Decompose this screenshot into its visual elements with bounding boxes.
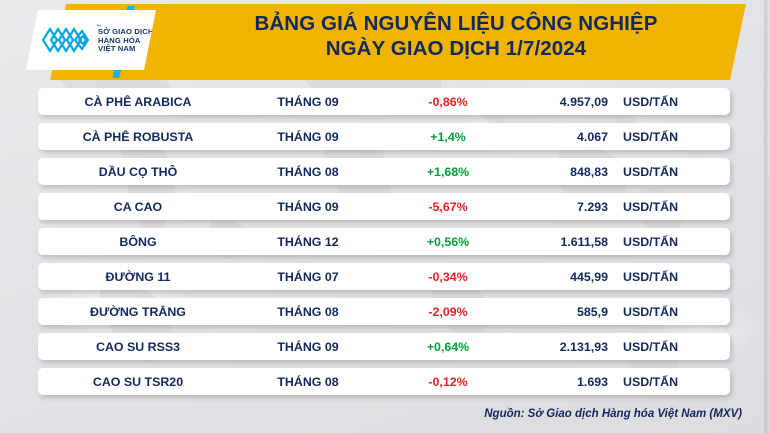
commodity-name: ĐƯỜNG TRẮNG (38, 305, 238, 319)
price-value: 1.611,58 (508, 235, 608, 249)
price-value: 585,9 (508, 305, 608, 319)
contract-month: THÁNG 12 (248, 235, 368, 249)
contract-month: THÁNG 09 (248, 340, 368, 354)
source-note: Nguồn: Sở Giao dịch Hàng hóa Việt Nam (M… (484, 408, 742, 420)
change-percent: -5,67% (378, 200, 518, 214)
logo-card: ™ SỞ GIAO DỊCH HÀNG HÓA VIỆT NAM (26, 10, 156, 70)
table-row[interactable]: ĐƯỜNG TRẮNGTHÁNG 08-2,09%585,9USD/TẤN (38, 298, 730, 325)
contract-month: THÁNG 09 (248, 130, 368, 144)
commodity-name: CÀ PHÊ ARABICA (38, 95, 238, 109)
change-percent: +1,68% (378, 165, 518, 179)
price-unit: USD/TẤN (623, 270, 678, 284)
change-percent: -2,09% (378, 305, 518, 319)
logo-wordmark: SỞ GIAO DỊCH HÀNG HÓA VIỆT NAM (98, 28, 154, 54)
price-unit: USD/TẤN (623, 375, 678, 389)
change-percent: -0,34% (378, 270, 518, 284)
price-unit: USD/TẤN (623, 200, 678, 214)
change-percent: +0,56% (378, 235, 518, 249)
title-line-1: BẢNG GIÁ NGUYÊN LIỆU CÔNG NGHIỆP (196, 11, 716, 36)
price-unit: USD/TẤN (623, 340, 678, 354)
price-value: 445,99 (508, 270, 608, 284)
mxv-logo-icon (40, 23, 92, 57)
contract-month: THÁNG 08 (248, 165, 368, 179)
commodity-name: ĐƯỜNG 11 (38, 270, 238, 284)
commodity-name: CAO SU RSS3 (38, 340, 238, 354)
commodity-name: DẦU CỌ THÔ (38, 165, 238, 179)
table-row[interactable]: CAO SU TSR20THÁNG 08-0,12%1.693USD/TẤN (38, 368, 730, 395)
contract-month: THÁNG 08 (248, 375, 368, 389)
title-line-2: NGÀY GIAO DỊCH 1/7/2024 (196, 36, 716, 61)
contract-month: THÁNG 07 (248, 270, 368, 284)
price-value: 1.693 (508, 375, 608, 389)
price-board-page: ™ SỞ GIAO DỊCH HÀNG HÓA VIỆT NAM BẢNG GI… (0, 0, 770, 433)
table-row[interactable]: CA CAOTHÁNG 09-5,67%7.293USD/TẤN (38, 193, 730, 220)
price-unit: USD/TẤN (623, 130, 678, 144)
commodity-name: CAO SU TSR20 (38, 375, 238, 389)
table-row[interactable]: BÔNGTHÁNG 12+0,56%1.611,58USD/TẤN (38, 228, 730, 255)
table-row[interactable]: ĐƯỜNG 11THÁNG 07-0,34%445,99USD/TẤN (38, 263, 730, 290)
commodity-name: CA CAO (38, 200, 238, 214)
change-percent: +0,64% (378, 340, 518, 354)
change-percent: +1,4% (378, 130, 518, 144)
commodity-name: BÔNG (38, 235, 238, 249)
page-title: BẢNG GIÁ NGUYÊN LIỆU CÔNG NGHIỆP NGÀY GI… (196, 11, 716, 61)
price-value: 7.293 (508, 200, 608, 214)
commodity-name: CÀ PHÊ ROBUSTA (38, 130, 238, 144)
table-row[interactable]: CÀ PHÊ ROBUSTATHÁNG 09+1,4%4.067USD/TẤN (38, 123, 730, 150)
price-value: 848,83 (508, 165, 608, 179)
price-unit: USD/TẤN (623, 165, 678, 179)
contract-month: THÁNG 09 (248, 200, 368, 214)
table-row[interactable]: CAO SU RSS3THÁNG 09+0,64%2.131,93USD/TẤN (38, 333, 730, 360)
change-percent: -0,12% (378, 375, 518, 389)
table-row[interactable]: DẦU CỌ THÔTHÁNG 08+1,68%848,83USD/TẤN (38, 158, 730, 185)
logo-line-3: VIỆT NAM (98, 45, 154, 54)
change-percent: -0,86% (378, 95, 518, 109)
price-value: 4.957,09 (508, 95, 608, 109)
price-value: 4.067 (508, 130, 608, 144)
price-value: 2.131,93 (508, 340, 608, 354)
price-unit: USD/TẤN (623, 95, 678, 109)
contract-month: THÁNG 08 (248, 305, 368, 319)
commodity-price-table: CÀ PHÊ ARABICATHÁNG 09-0,86%4.957,09USD/… (0, 88, 770, 403)
contract-month: THÁNG 09 (248, 95, 368, 109)
price-unit: USD/TẤN (623, 305, 678, 319)
price-unit: USD/TẤN (623, 235, 678, 249)
table-row[interactable]: CÀ PHÊ ARABICATHÁNG 09-0,86%4.957,09USD/… (38, 88, 730, 115)
